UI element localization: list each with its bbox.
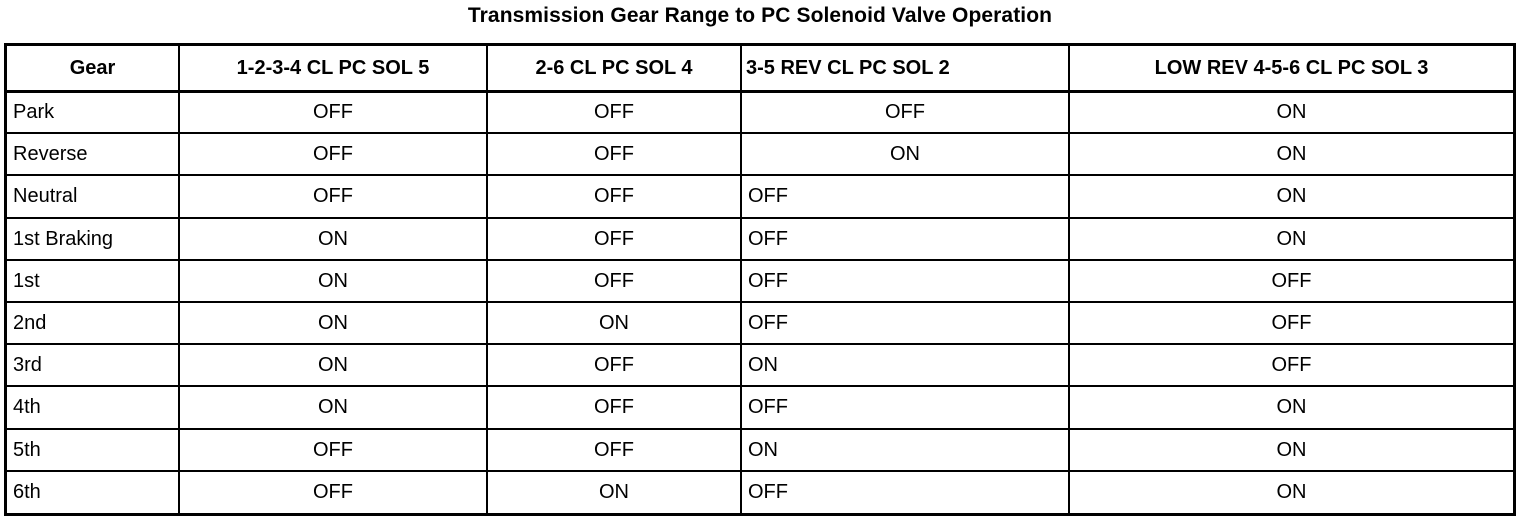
cell-sol2: ON (741, 133, 1069, 175)
cell-sol5: ON (179, 218, 487, 260)
cell-sol3: OFF (1069, 344, 1513, 386)
cell-sol4: OFF (487, 386, 741, 428)
cell-sol4: OFF (487, 175, 741, 217)
column-header-sol4: 2-6 CL PC SOL 4 (487, 46, 741, 91)
cell-sol3: OFF (1069, 302, 1513, 344)
cell-sol4: OFF (487, 429, 741, 471)
table-row: 2ndONONOFFOFF (7, 302, 1513, 344)
gear-solenoid-table-container: Gear 1-2-3-4 CL PC SOL 5 2-6 CL PC SOL 4… (4, 43, 1516, 516)
cell-gear: 3rd (7, 344, 179, 386)
cell-sol5: OFF (179, 175, 487, 217)
cell-sol2: OFF (741, 91, 1069, 133)
cell-sol3: ON (1069, 91, 1513, 133)
cell-sol5: OFF (179, 133, 487, 175)
cell-gear: 5th (7, 429, 179, 471)
table-row: 1stONOFFOFFOFF (7, 260, 1513, 302)
cell-sol4: OFF (487, 260, 741, 302)
cell-sol2: OFF (741, 386, 1069, 428)
cell-gear: 2nd (7, 302, 179, 344)
cell-sol2: ON (741, 429, 1069, 471)
cell-sol5: OFF (179, 429, 487, 471)
table-row: 6thOFFONOFFON (7, 471, 1513, 513)
cell-gear: 4th (7, 386, 179, 428)
cell-sol2: OFF (741, 302, 1069, 344)
cell-sol4: OFF (487, 133, 741, 175)
table-body: ParkOFFOFFOFFONReverseOFFOFFONONNeutralO… (7, 91, 1513, 513)
cell-sol3: ON (1069, 218, 1513, 260)
cell-gear: Neutral (7, 175, 179, 217)
cell-sol2: OFF (741, 175, 1069, 217)
cell-sol4: OFF (487, 344, 741, 386)
cell-gear: 1st (7, 260, 179, 302)
cell-gear: 1st Braking (7, 218, 179, 260)
cell-gear: 6th (7, 471, 179, 513)
column-header-gear: Gear (7, 46, 179, 91)
cell-sol5: ON (179, 386, 487, 428)
cell-sol3: ON (1069, 386, 1513, 428)
cell-sol2: OFF (741, 471, 1069, 513)
column-header-sol2: 3-5 REV CL PC SOL 2 (741, 46, 1069, 91)
cell-sol4: ON (487, 471, 741, 513)
cell-sol3: OFF (1069, 260, 1513, 302)
cell-sol2: OFF (741, 260, 1069, 302)
cell-gear: Park (7, 91, 179, 133)
cell-sol2: OFF (741, 218, 1069, 260)
cell-sol5: ON (179, 344, 487, 386)
table-header-row: Gear 1-2-3-4 CL PC SOL 5 2-6 CL PC SOL 4… (7, 46, 1513, 91)
cell-sol2: ON (741, 344, 1069, 386)
cell-sol5: OFF (179, 471, 487, 513)
table-header: Gear 1-2-3-4 CL PC SOL 5 2-6 CL PC SOL 4… (7, 46, 1513, 91)
table-row: 3rdONOFFONOFF (7, 344, 1513, 386)
table-row: 4thONOFFOFFON (7, 386, 1513, 428)
table-row: 1st BrakingONOFFOFFON (7, 218, 1513, 260)
cell-sol5: ON (179, 260, 487, 302)
page-title: Transmission Gear Range to PC Solenoid V… (0, 0, 1520, 29)
cell-sol5: OFF (179, 91, 487, 133)
cell-gear: Reverse (7, 133, 179, 175)
cell-sol3: ON (1069, 175, 1513, 217)
gear-solenoid-table: Gear 1-2-3-4 CL PC SOL 5 2-6 CL PC SOL 4… (7, 46, 1513, 513)
table-row: ReverseOFFOFFONON (7, 133, 1513, 175)
document-page: Transmission Gear Range to PC Solenoid V… (0, 0, 1520, 518)
cell-sol3: ON (1069, 429, 1513, 471)
table-row: ParkOFFOFFOFFON (7, 91, 1513, 133)
column-header-sol5: 1-2-3-4 CL PC SOL 5 (179, 46, 487, 91)
column-header-sol3: LOW REV 4-5-6 CL PC SOL 3 (1069, 46, 1513, 91)
cell-sol3: ON (1069, 133, 1513, 175)
cell-sol5: ON (179, 302, 487, 344)
table-row: NeutralOFFOFFOFFON (7, 175, 1513, 217)
cell-sol4: ON (487, 302, 741, 344)
cell-sol4: OFF (487, 91, 741, 133)
cell-sol4: OFF (487, 218, 741, 260)
table-row: 5thOFFOFFONON (7, 429, 1513, 471)
cell-sol3: ON (1069, 471, 1513, 513)
